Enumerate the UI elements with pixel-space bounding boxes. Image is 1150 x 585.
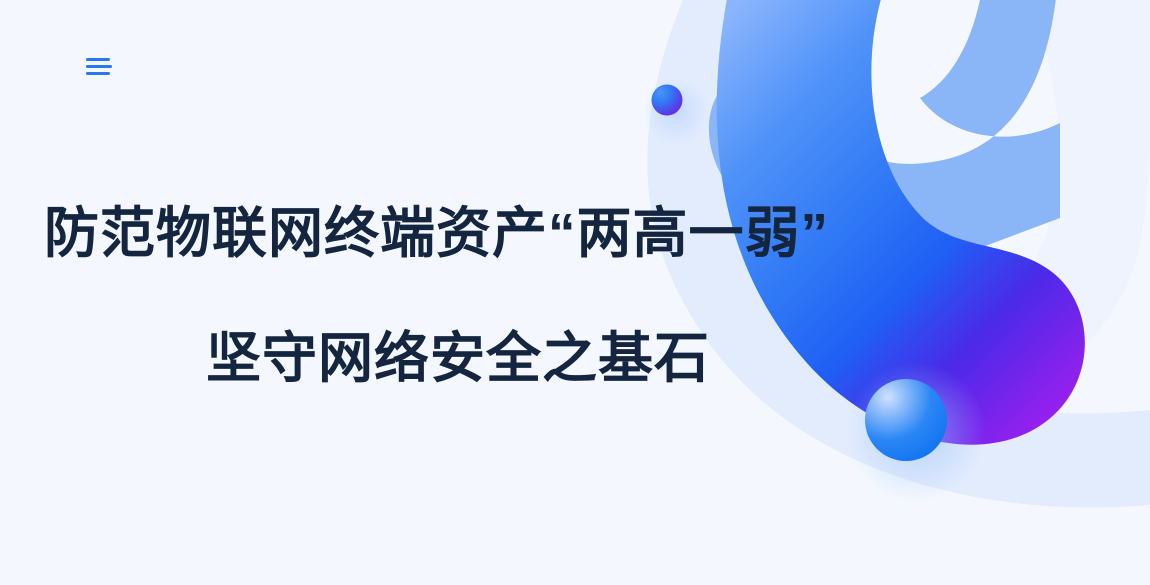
slide-title-line-1: 防范物联网终端资产“两高一弱”: [44, 206, 829, 261]
presentation-slide: 防范物联网终端资产“两高一弱” 坚守网络安全之基石: [0, 0, 1150, 585]
large-sphere-glow: [846, 362, 986, 502]
hamburger-bar-middle: [86, 65, 112, 68]
hamburger-menu-icon[interactable]: [78, 46, 120, 86]
hamburger-bar-top: [86, 58, 110, 61]
large-sphere: [865, 379, 947, 461]
top-bar: [0, 0, 1150, 130]
slide-title-line-2: 坚守网络安全之基石: [206, 331, 710, 386]
hamburger-bar-bottom: [86, 72, 110, 75]
